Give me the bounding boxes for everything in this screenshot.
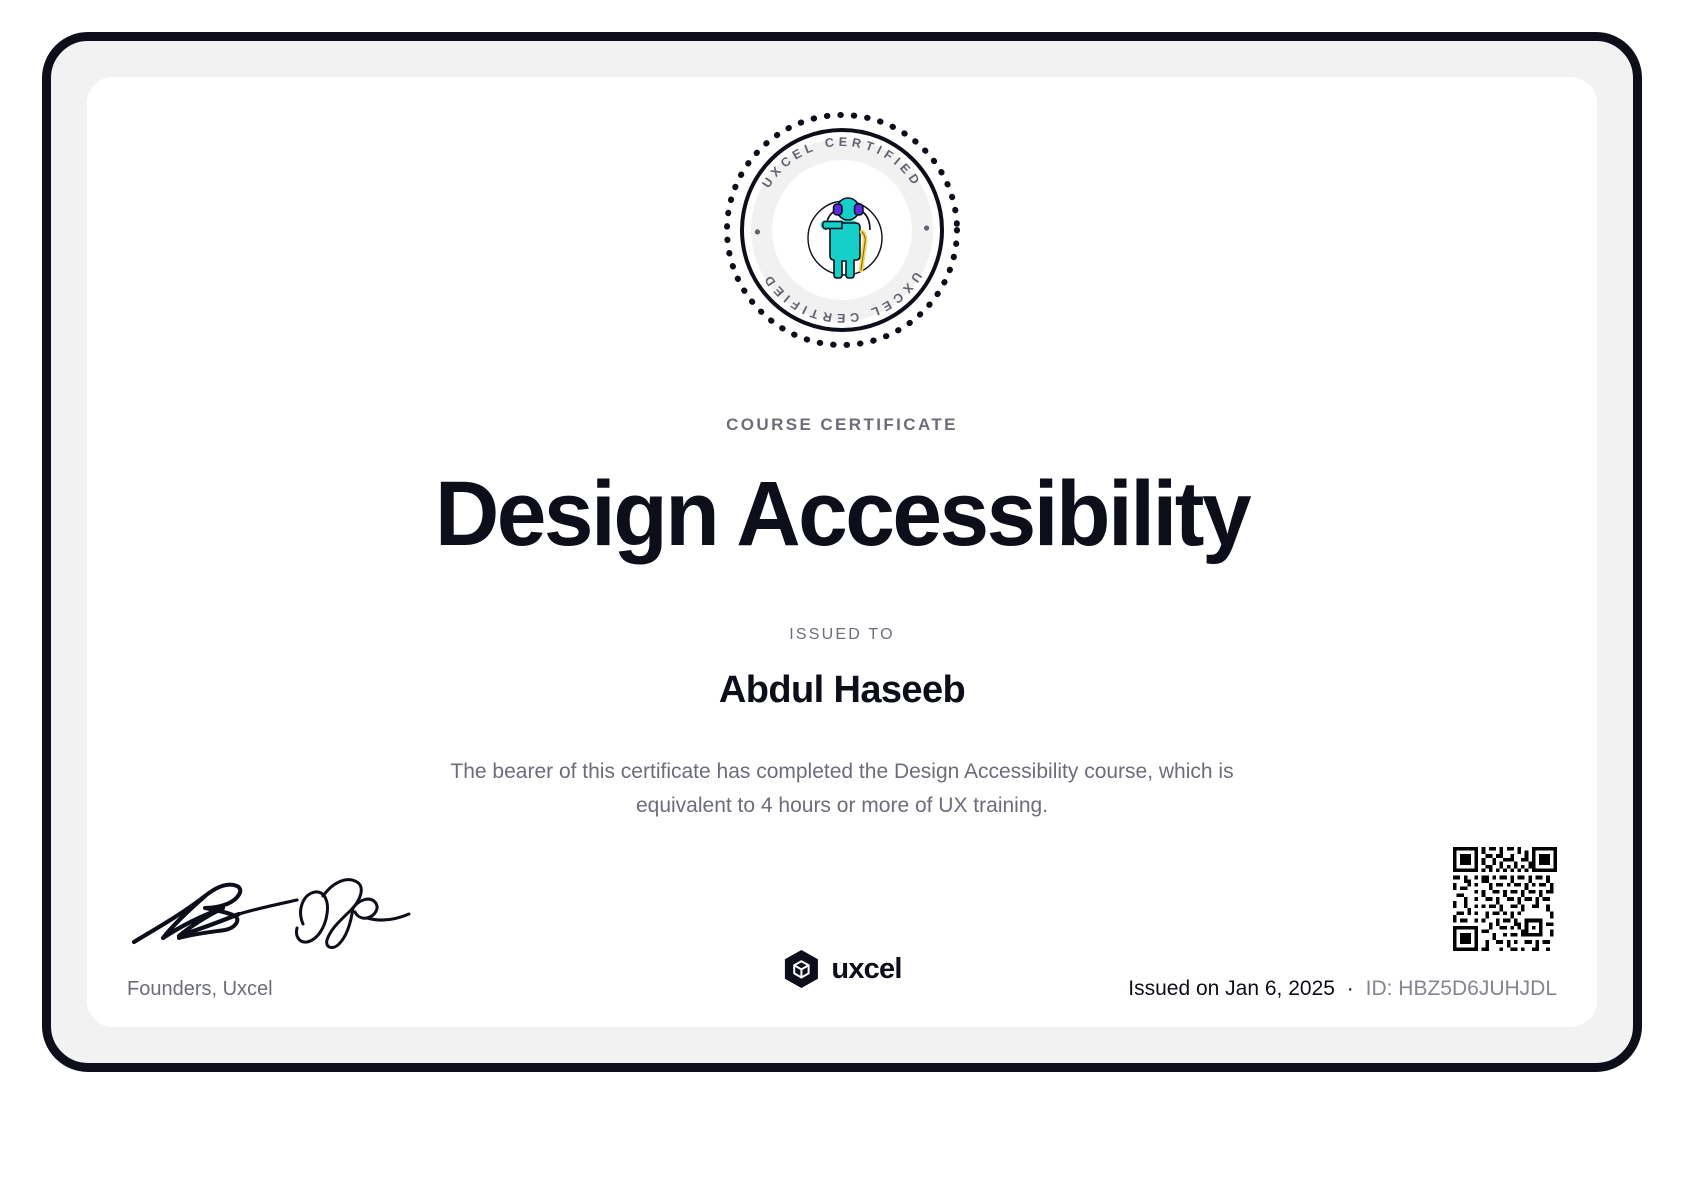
issue-meta-line: Issued on Jan 6, 2025 · ID: HBZ5D6JUHJDL bbox=[1128, 977, 1557, 1001]
founders-signature-image bbox=[127, 870, 427, 962]
issued-on-date: Issued on Jan 6, 2025 bbox=[1128, 977, 1335, 1000]
uxcel-hexagon-cube-icon bbox=[782, 949, 820, 989]
uxcel-brand-logo: uxcel bbox=[782, 949, 901, 989]
seal-graphic: UXCEL CERTIFIED UXCEL CERTIFIED bbox=[717, 105, 967, 355]
certificate-frame: UXCEL CERTIFIED UXCEL CERTIFIED bbox=[42, 32, 1642, 1072]
meta-separator: · bbox=[1341, 977, 1360, 1000]
issued-to-label: ISSUED TO bbox=[87, 626, 1597, 644]
verification-qr-code[interactable] bbox=[1453, 847, 1557, 951]
certificate-type-label: COURSE CERTIFICATE bbox=[87, 415, 1597, 435]
signature-caption: Founders, Uxcel bbox=[127, 978, 547, 1001]
certificate-footer: Founders, Uxcel uxcel bbox=[87, 807, 1597, 1027]
certificate-id: ID: HBZ5D6JUHJDL bbox=[1366, 977, 1557, 1000]
signature-block: Founders, Uxcel bbox=[127, 870, 547, 1001]
course-title: Design Accessibility bbox=[110, 467, 1575, 563]
certificate-panel: UXCEL CERTIFIED UXCEL CERTIFIED bbox=[87, 77, 1597, 1027]
recipient-name: Abdul Haseeb bbox=[87, 669, 1597, 712]
uxcel-brand-name: uxcel bbox=[831, 953, 901, 986]
uxcel-certified-seal: UXCEL CERTIFIED UXCEL CERTIFIED bbox=[717, 105, 967, 355]
certificate-meta-block: Issued on Jan 6, 2025 · ID: HBZ5D6JUHJDL bbox=[1128, 847, 1557, 1001]
